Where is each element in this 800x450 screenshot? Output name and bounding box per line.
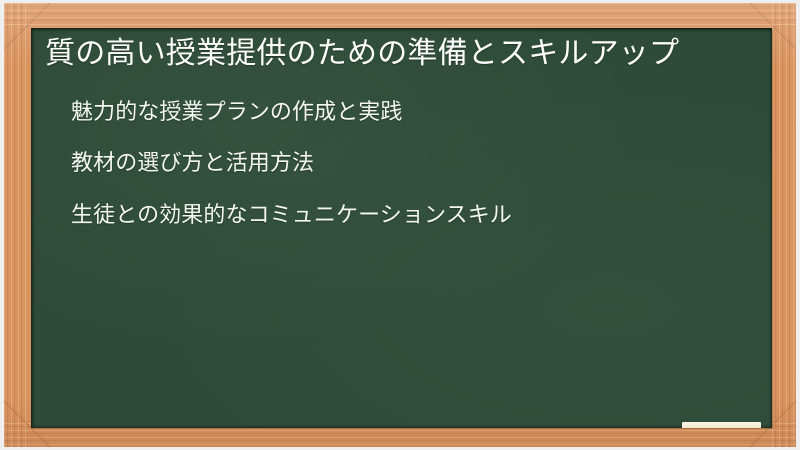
list-item: 魅力的な授業プランの作成と実践 (71, 100, 754, 127)
chalkboard-slide: 質の高い授業提供のための準備とスキルアップ 魅力的な授業プランの作成と実践 教材… (0, 0, 800, 450)
blackboard-surface: 質の高い授業提供のための準備とスキルアップ 魅力的な授業プランの作成と実践 教材… (31, 28, 772, 428)
frame-grain-top (4, 3, 796, 27)
chalk-stick (682, 422, 761, 428)
board-content: 質の高い授業提供のための準備とスキルアップ 魅力的な授業プランの作成と実践 教材… (31, 28, 772, 230)
bullet-list: 魅力的な授業プランの作成と実践 教材の選び方と活用方法 生徒との効果的なコミュニ… (41, 100, 754, 230)
slide-title: 質の高い授業提供のための準備とスキルアップ (41, 34, 754, 74)
wooden-frame: 質の高い授業提供のための準備とスキルアップ 魅力的な授業プランの作成と実践 教材… (4, 3, 796, 447)
frame-grain-left (4, 3, 28, 447)
frame-grain-right (772, 3, 796, 447)
list-item: 生徒との効果的なコミュニケーションスキル (71, 203, 754, 230)
list-item: 教材の選び方と活用方法 (71, 151, 754, 178)
